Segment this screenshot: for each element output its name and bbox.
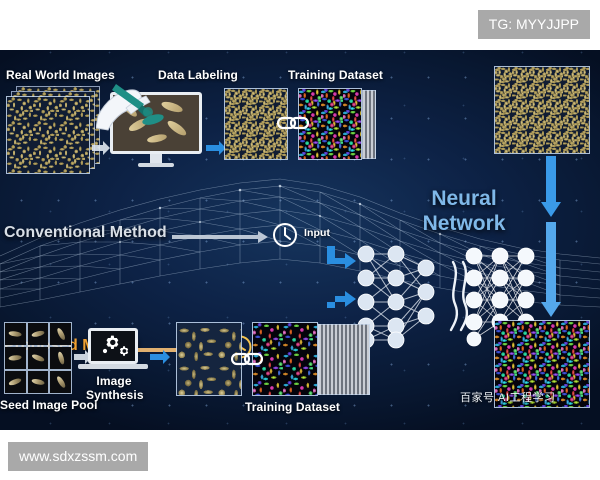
seed-thumbnail bbox=[50, 371, 71, 393]
image-synthesis-label-line1: Image bbox=[86, 374, 142, 388]
watermark-bottom-left: www.sdxzssm.com bbox=[8, 442, 148, 471]
monitor-base bbox=[138, 163, 174, 167]
pipeline-figure: Real World Images Data Labeling bbox=[0, 50, 600, 430]
seed-thumbnail bbox=[5, 371, 26, 393]
arrow-bottom-input-to-nn bbox=[325, 288, 357, 320]
chain-link-icon-top bbox=[277, 114, 309, 137]
seed-thumbnail bbox=[5, 347, 26, 369]
chinese-watermark: 百家号 AI工程学习 bbox=[460, 389, 555, 405]
neural-network-title: Neural Network bbox=[404, 186, 524, 236]
laptop-base bbox=[78, 364, 148, 369]
conventional-method-label: Conventional Method bbox=[4, 224, 167, 242]
arrow-images-to-labeling bbox=[92, 140, 110, 156]
image-synthesis-laptop bbox=[88, 328, 138, 364]
monitor-stand bbox=[150, 154, 162, 163]
training-dataset-label-top: Training Dataset bbox=[288, 68, 383, 82]
laptop-screen bbox=[91, 331, 135, 361]
clock-icon bbox=[272, 222, 298, 253]
dataset-page-stack-bottom bbox=[318, 324, 370, 395]
seed-thumbnail bbox=[28, 323, 49, 345]
seed-thumbnail bbox=[28, 371, 49, 393]
test-input-image bbox=[494, 66, 590, 154]
seed-thumbnail bbox=[50, 347, 71, 369]
image-synthesis-label: Image Synthesis bbox=[86, 374, 142, 402]
real-world-image-tile bbox=[6, 96, 90, 174]
watermark-top-right: TG: MYYJJPP bbox=[478, 10, 590, 39]
seed-image-pool-grid bbox=[4, 322, 72, 394]
arrow-synthesis-to-dataset bbox=[150, 350, 170, 364]
seed-thumbnail bbox=[50, 323, 71, 345]
dataset-page-stack-top bbox=[362, 90, 376, 159]
image-synthesis-label-line2: Synthesis bbox=[86, 388, 142, 402]
seed-thumbnail bbox=[28, 347, 49, 369]
hand-with-pen-icon bbox=[96, 78, 172, 132]
arrow-nn-to-result bbox=[540, 222, 562, 318]
arrow-test-input-down bbox=[540, 156, 562, 218]
neural-network-title-line2: Network bbox=[404, 211, 524, 236]
neural-network-title-line1: Neural bbox=[404, 186, 524, 211]
input-label-top: Input bbox=[304, 227, 330, 239]
arrow-conventional-method bbox=[172, 231, 268, 243]
page-canvas: Real World Images Data Labeling bbox=[0, 0, 600, 480]
chain-link-icon-bottom bbox=[231, 350, 263, 373]
arrow-labeling-to-dataset bbox=[206, 140, 226, 156]
seed-image-pool-label: Seed Image Pool bbox=[0, 398, 98, 412]
seed-thumbnail bbox=[5, 323, 26, 345]
training-dataset-label-bottom: Training Dataset bbox=[245, 400, 340, 414]
